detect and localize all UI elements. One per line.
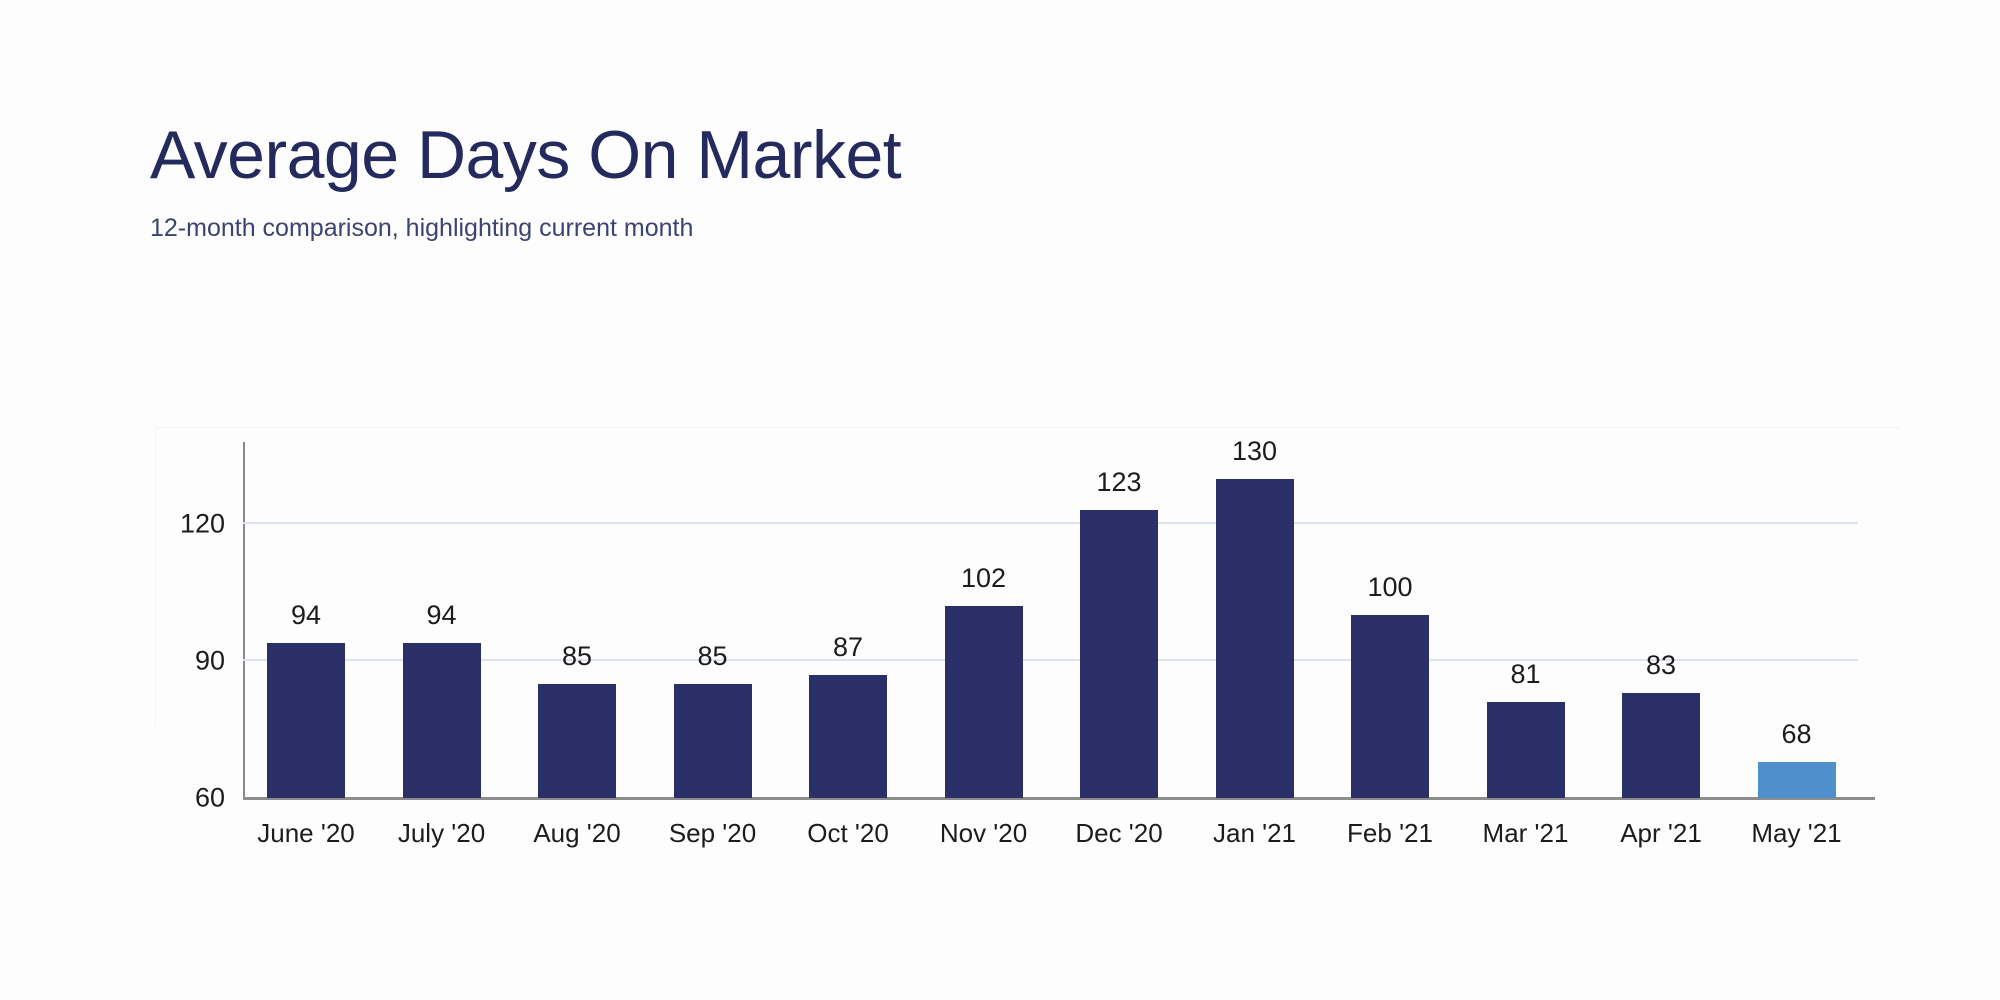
x-tick-label: Aug '20 bbox=[533, 820, 620, 846]
bar[interactable] bbox=[1216, 479, 1294, 798]
bar-value-label: 85 bbox=[697, 643, 727, 670]
bar-value-label: 94 bbox=[426, 602, 456, 629]
bar-value-label: 85 bbox=[562, 643, 592, 670]
bar-group-3[interactable]: 85Sep '20 bbox=[674, 442, 752, 798]
y-tick-label: 90 bbox=[195, 646, 225, 677]
bar-group-8[interactable]: 100Feb '21 bbox=[1351, 442, 1429, 798]
bar[interactable] bbox=[1351, 615, 1429, 798]
bar-group-9[interactable]: 81Mar '21 bbox=[1487, 442, 1565, 798]
x-tick-label: Nov '20 bbox=[940, 820, 1027, 846]
bar-group-10[interactable]: 83Apr '21 bbox=[1622, 442, 1700, 798]
bar-group-0[interactable]: 94June '20 bbox=[267, 442, 345, 798]
bar-value-label: 68 bbox=[1781, 721, 1811, 748]
bar[interactable] bbox=[1758, 762, 1836, 799]
x-tick-label: Oct '20 bbox=[807, 820, 889, 846]
x-tick-label: Apr '21 bbox=[1620, 820, 1702, 846]
y-tick-label: 60 bbox=[195, 783, 225, 814]
x-tick-label: Mar '21 bbox=[1483, 820, 1569, 846]
chart-header: Average Days On Market 12-month comparis… bbox=[150, 120, 1850, 243]
bar-value-label: 123 bbox=[1096, 469, 1141, 496]
bar[interactable] bbox=[267, 643, 345, 798]
plot-area: 6090120 94June '2094July '2085Aug '2085S… bbox=[243, 442, 1870, 798]
y-tick-label: 120 bbox=[180, 509, 225, 540]
page-title: Average Days On Market bbox=[150, 120, 1850, 191]
bar-group-1[interactable]: 94July '20 bbox=[403, 442, 481, 798]
bar-value-label: 94 bbox=[291, 602, 321, 629]
bar-value-label: 87 bbox=[833, 634, 863, 661]
bars-group: 94June '2094July '2085Aug '2085Sep '2087… bbox=[243, 442, 1870, 798]
bar[interactable] bbox=[538, 684, 616, 798]
bar-value-label: 102 bbox=[961, 565, 1006, 592]
x-tick-label: Jan '21 bbox=[1213, 820, 1296, 846]
x-tick-label: May '21 bbox=[1751, 820, 1841, 846]
x-tick-label: Dec '20 bbox=[1075, 820, 1162, 846]
bar[interactable] bbox=[1622, 693, 1700, 798]
bar-value-label: 81 bbox=[1510, 661, 1540, 688]
x-tick-label: Feb '21 bbox=[1347, 820, 1433, 846]
page-subtitle: 12-month comparison, highlighting curren… bbox=[150, 213, 1850, 243]
bar-group-6[interactable]: 123Dec '20 bbox=[1080, 442, 1158, 798]
x-tick-label: June '20 bbox=[257, 820, 355, 846]
bar-group-11[interactable]: 68May '21 bbox=[1758, 442, 1836, 798]
bar-group-7[interactable]: 130Jan '21 bbox=[1216, 442, 1294, 798]
bar[interactable] bbox=[1487, 702, 1565, 798]
x-tick-label: July '20 bbox=[398, 820, 485, 846]
slide-canvas: Average Days On Market 12-month comparis… bbox=[0, 0, 2000, 1000]
bar-value-label: 83 bbox=[1646, 652, 1676, 679]
bar[interactable] bbox=[945, 606, 1023, 798]
bar-value-label: 130 bbox=[1232, 438, 1277, 465]
bar[interactable] bbox=[674, 684, 752, 798]
x-tick-label: Sep '20 bbox=[669, 820, 756, 846]
bar-group-4[interactable]: 87Oct '20 bbox=[809, 442, 887, 798]
bar-group-5[interactable]: 102Nov '20 bbox=[945, 442, 1023, 798]
bar-chart: 6090120 94June '2094July '2085Aug '2085S… bbox=[150, 425, 1910, 865]
bar[interactable] bbox=[809, 675, 887, 798]
bar-group-2[interactable]: 85Aug '20 bbox=[538, 442, 616, 798]
bar-value-label: 100 bbox=[1367, 574, 1412, 601]
bar[interactable] bbox=[403, 643, 481, 798]
bar[interactable] bbox=[1080, 510, 1158, 798]
